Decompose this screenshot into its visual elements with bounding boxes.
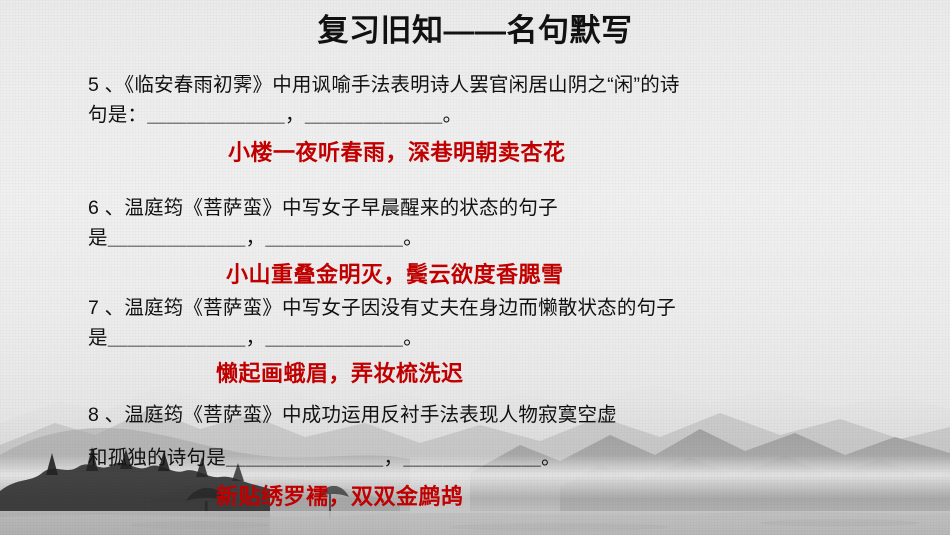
- question-7-line-2: 是＿＿＿＿＿＿＿，＿＿＿＿＿＿＿。: [88, 323, 888, 353]
- question-item-5: 5 、《临安春雨初霁》中用讽喻手法表明诗人罢官闲居山阴之“闲”的诗 句是：＿＿＿…: [88, 70, 888, 169]
- question-7-line-1: 7 、温庭筠《菩萨蛮》中写女子因没有丈夫在身边而懒散状态的句子: [88, 293, 888, 323]
- question-7-answer: 懒起画蛾眉，弄妆梳洗迟: [216, 358, 888, 390]
- question-item-8: 8 、温庭筠《菩萨蛮》中成功运用反衬手法表现人物寂寞空虚 和孤独的诗句是＿＿＿＿…: [88, 400, 888, 513]
- question-6-line-1: 6 、温庭筠《菩萨蛮》中写女子早晨醒来的状态的句子: [88, 193, 888, 223]
- presentation-slide: 复习旧知——名句默写 5 、《临安春雨初霁》中用讽喻手法表明诗人罢官闲居山阴之“…: [0, 0, 950, 535]
- question-6-answer: 小山重叠金明灭，鬓云欲度香腮雪: [226, 259, 888, 291]
- question-5-line-1: 5 、《临安春雨初霁》中用讽喻手法表明诗人罢官闲居山阴之“闲”的诗: [88, 70, 888, 100]
- question-item-6: 6 、温庭筠《菩萨蛮》中写女子早晨醒来的状态的句子 是＿＿＿＿＿＿＿，＿＿＿＿＿…: [88, 193, 888, 291]
- question-5-line-2: 句是：＿＿＿＿＿＿＿，＿＿＿＿＿＿＿。: [88, 100, 888, 130]
- question-6-line-2: 是＿＿＿＿＿＿＿，＿＿＿＿＿＿＿。: [88, 223, 888, 253]
- question-5-answer: 小楼一夜听春雨，深巷明朝卖杏花: [228, 137, 888, 169]
- question-8-line-1: 8 、温庭筠《菩萨蛮》中成功运用反衬手法表现人物寂寞空虚: [88, 400, 888, 430]
- question-list: 5 、《临安春雨初霁》中用讽喻手法表明诗人罢官闲居山阴之“闲”的诗 句是：＿＿＿…: [0, 0, 950, 535]
- question-item-7: 7 、温庭筠《菩萨蛮》中写女子因没有丈夫在身边而懒散状态的句子 是＿＿＿＿＿＿＿…: [88, 293, 888, 390]
- question-8-answer: 新贴绣罗襦，双双金鹧鸪: [216, 481, 888, 513]
- question-8-line-2: 和孤独的诗句是＿＿＿＿＿＿＿＿，＿＿＿＿＿＿＿。: [88, 443, 888, 473]
